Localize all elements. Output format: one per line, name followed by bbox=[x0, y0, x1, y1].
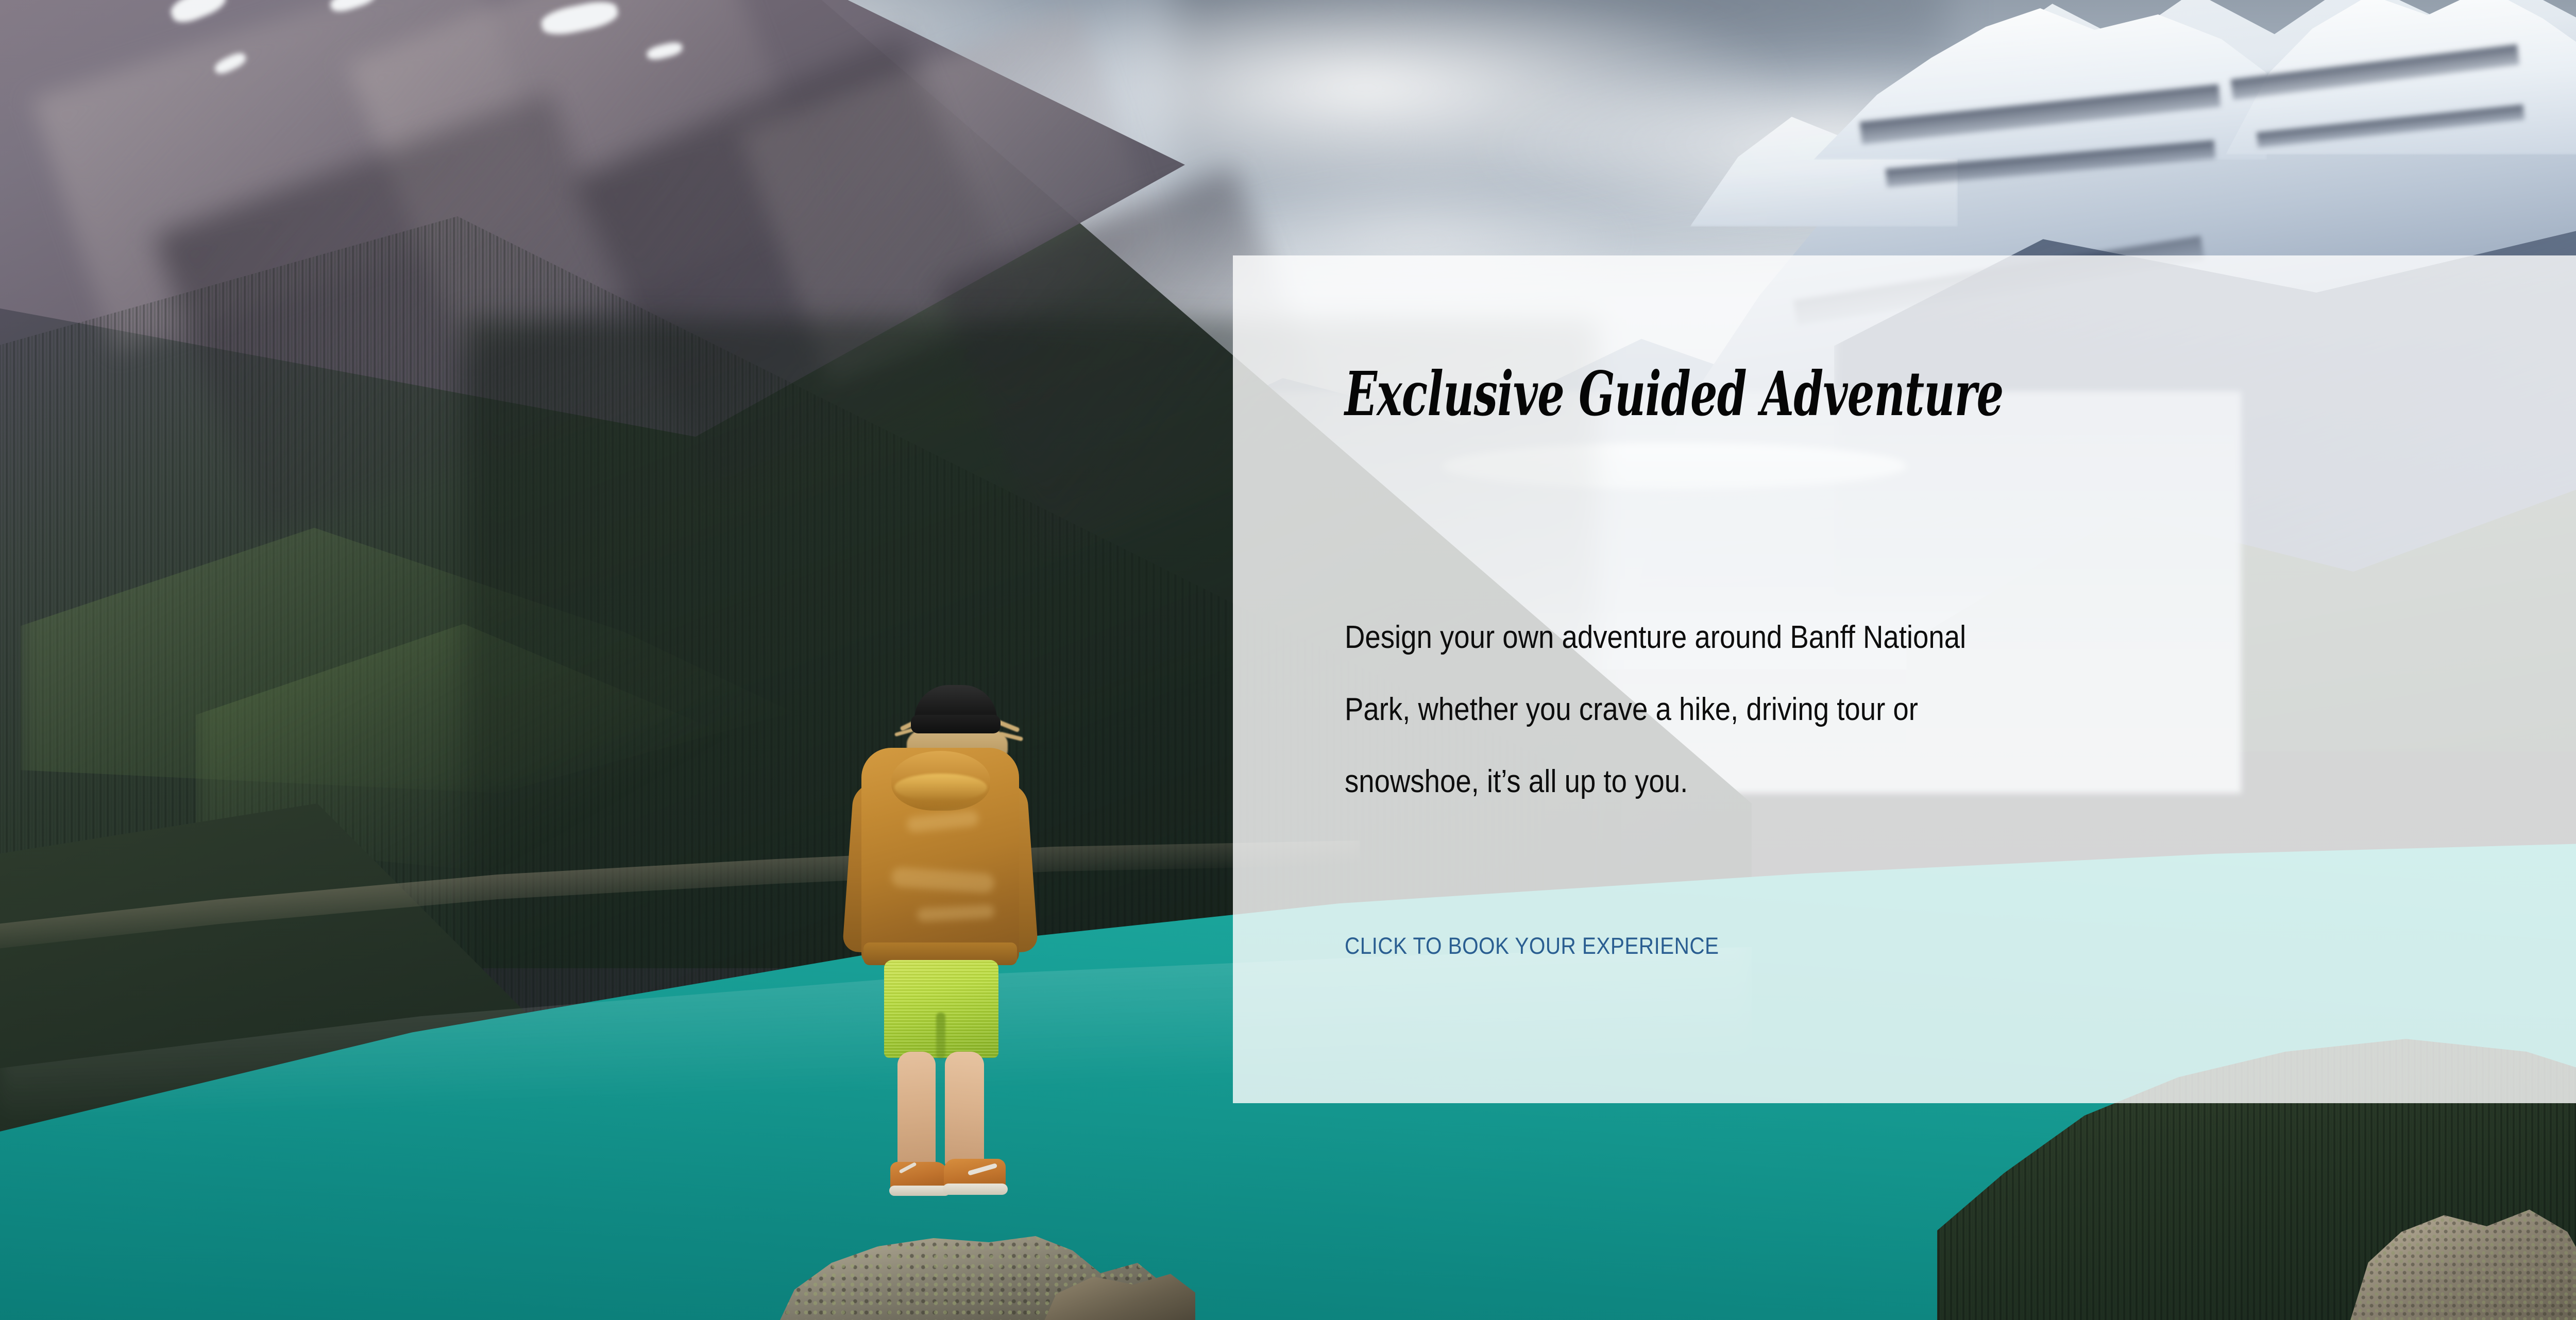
left-shoe-sole bbox=[889, 1186, 950, 1196]
beanie-brim bbox=[911, 715, 1001, 733]
right-leg bbox=[945, 1052, 984, 1170]
hood-edge bbox=[894, 774, 987, 801]
shorts-seam bbox=[936, 1013, 945, 1059]
hiker-figure bbox=[829, 685, 1046, 1246]
book-experience-link[interactable]: CLICK TO BOOK YOUR EXPERIENCE bbox=[1345, 934, 1719, 957]
page-title: Exclusive Guided Adventure bbox=[1345, 364, 2003, 424]
promo-panel: Exclusive Guided Adventure Design your o… bbox=[1233, 255, 2576, 1103]
promo-panel-content: Exclusive Guided Adventure Design your o… bbox=[1345, 255, 2576, 1103]
hero-banner: Exclusive Guided Adventure Design your o… bbox=[0, 0, 2576, 1320]
promo-description: Design your own adventure around Banff N… bbox=[1345, 602, 2007, 818]
right-shoe-sole bbox=[943, 1184, 1008, 1195]
left-leg bbox=[897, 1052, 936, 1170]
